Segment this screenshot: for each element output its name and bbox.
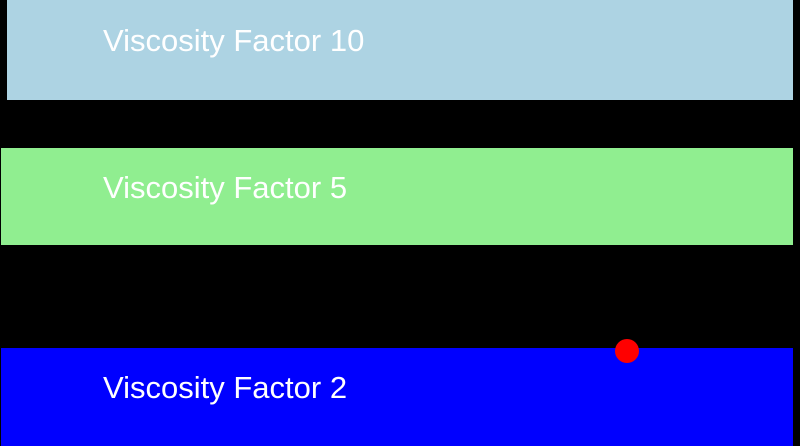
viscosity-band-10-label: Viscosity Factor 10 bbox=[103, 25, 364, 56]
viscosity-band-canvas: Viscosity Factor 10 Viscosity Factor 5 V… bbox=[0, 0, 800, 446]
red-dot-marker-icon[interactable] bbox=[615, 339, 639, 363]
viscosity-band-2-label: Viscosity Factor 2 bbox=[103, 372, 347, 403]
viscosity-band-5-label: Viscosity Factor 5 bbox=[103, 172, 347, 203]
